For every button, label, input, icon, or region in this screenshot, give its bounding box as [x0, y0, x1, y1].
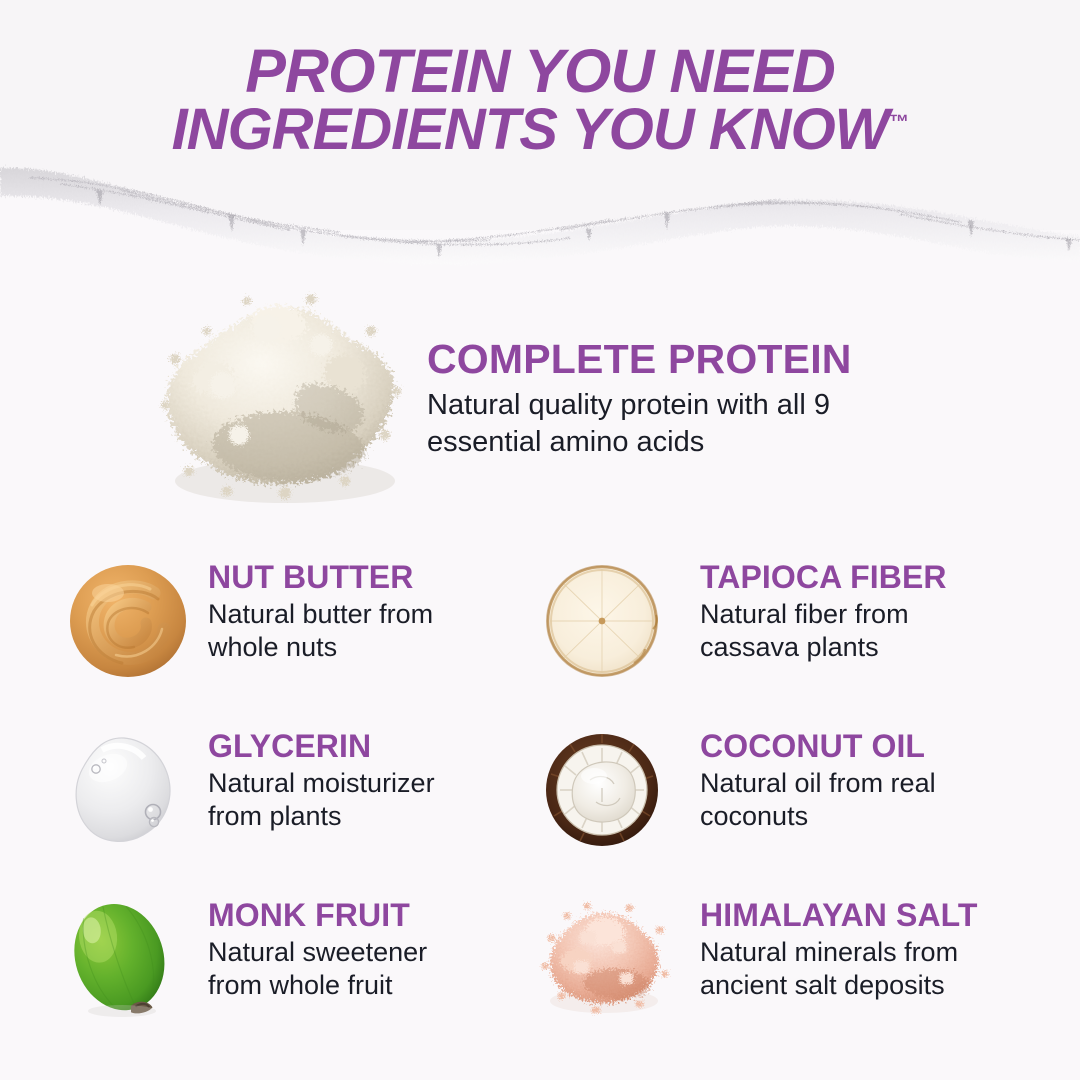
ingredient-description: Natural minerals from ancient salt depos… [700, 936, 1045, 1001]
ingredient-card-coconut-oil: COCONUT OIL Natural oil from real coconu… [530, 722, 1030, 852]
headline-line-1: PROTEIN YOU NEED [0, 42, 1080, 102]
ingredient-card-tapioca-fiber: TAPIOCA FIBER Natural fiber from cassava… [530, 553, 1030, 683]
himalayan-salt-pile-image [540, 897, 680, 1019]
desc-line-1: Natural fiber from [700, 599, 909, 629]
ingredient-title: GLYCERIN [208, 730, 538, 764]
glycerin-gel-drop-image [58, 728, 198, 850]
ingredient-title: NUT BUTTER [208, 561, 538, 595]
ingredient-card-himalayan-salt: HIMALAYAN SALT Natural minerals from anc… [530, 891, 1030, 1021]
coconut-oil-text-block: COCONUT OIL Natural oil from real coconu… [700, 730, 1045, 832]
monk-fruit-text-block: MONK FRUIT Natural sweetener from whole … [208, 899, 538, 1001]
trademark-symbol: ™ [888, 111, 908, 133]
desc-line-2: from whole fruit [208, 970, 393, 1000]
ingredient-description: Natural moisturizer from plants [208, 767, 538, 832]
desc-line-2: from plants [208, 801, 342, 831]
desc-line-1: Natural moisturizer [208, 768, 435, 798]
desc-line-2: whole nuts [208, 632, 337, 662]
hero-description: Natural quality protein with all 9 essen… [427, 387, 947, 461]
nut-butter-text-block: NUT BUTTER Natural butter from whole nut… [208, 561, 538, 663]
headline-line-2-text: INGREDIENTS YOU KNOW [172, 97, 889, 162]
ingredient-title: COCONUT OIL [700, 730, 1045, 764]
page-title: PROTEIN YOU NEED INGREDIENTS YOU KNOW™ [0, 42, 1080, 159]
glycerin-text-block: GLYCERIN Natural moisturizer from plants [208, 730, 538, 832]
hero-ingredient: COMPLETE PROTEIN Natural quality protein… [0, 280, 1080, 530]
ingredient-card-nut-butter: NUT BUTTER Natural butter from whole nut… [40, 553, 540, 683]
ingredient-card-glycerin: GLYCERIN Natural moisturizer from plants [40, 722, 540, 852]
hero-title: COMPLETE PROTEIN [427, 338, 947, 381]
ingredient-card-monk-fruit: MONK FRUIT Natural sweetener from whole … [40, 891, 540, 1021]
desc-line-2: coconuts [700, 801, 808, 831]
ingredient-description: Natural butter from whole nuts [208, 598, 538, 663]
desc-line-1: Natural oil from real [700, 768, 936, 798]
ingredient-row-2: GLYCERIN Natural moisturizer from plants [0, 722, 1080, 872]
ingredient-row-3: MONK FRUIT Natural sweetener from whole … [0, 891, 1080, 1041]
desc-line-1: Natural butter from [208, 599, 433, 629]
headline-band: PROTEIN YOU NEED INGREDIENTS YOU KNOW™ [0, 0, 1080, 230]
ingredient-description: Natural sweetener from whole fruit [208, 936, 538, 1001]
ingredient-description: Natural oil from real coconuts [700, 767, 1045, 832]
tapioca-cassava-slice-image [540, 559, 680, 681]
ingredient-title: MONK FRUIT [208, 899, 538, 933]
himalayan-salt-text-block: HIMALAYAN SALT Natural minerals from anc… [700, 899, 1045, 1001]
ingredient-description: Natural fiber from cassava plants [700, 598, 1045, 663]
desc-line-2: cassava plants [700, 632, 879, 662]
hero-text-block: COMPLETE PROTEIN Natural quality protein… [427, 338, 947, 461]
ingredient-title: TAPIOCA FIBER [700, 561, 1045, 595]
desc-line-2: ancient salt deposits [700, 970, 945, 1000]
tapioca-fiber-text-block: TAPIOCA FIBER Natural fiber from cassava… [700, 561, 1045, 663]
ingredient-title: HIMALAYAN SALT [700, 899, 1045, 933]
coconut-half-image [540, 728, 680, 850]
nut-butter-swirl-image [58, 559, 198, 681]
ingredient-row-1: NUT BUTTER Natural butter from whole nut… [0, 553, 1080, 703]
protein-powder-pile-image [135, 285, 420, 520]
desc-line-1: Natural sweetener [208, 937, 427, 967]
monk-fruit-image [58, 897, 198, 1019]
headline-line-2: INGREDIENTS YOU KNOW™ [0, 102, 1080, 159]
desc-line-1: Natural minerals from [700, 937, 958, 967]
